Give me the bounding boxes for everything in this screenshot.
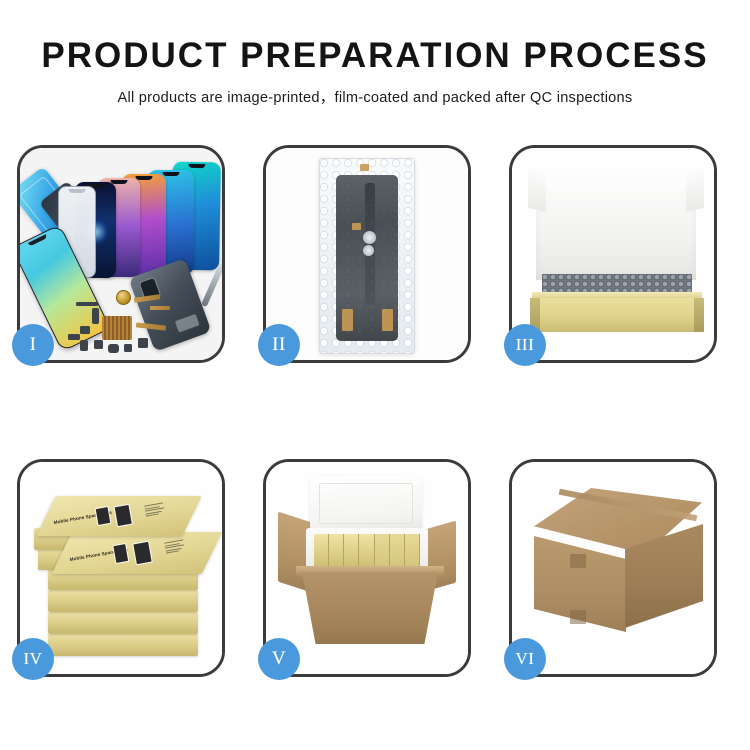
process-step-1: I <box>17 145 225 363</box>
retail-box-lid: Mobile Phone Spare Parts <box>52 532 222 574</box>
step-6-image <box>512 462 714 674</box>
sealed-carton-scene <box>512 462 714 674</box>
small-part <box>80 340 88 351</box>
carton-body <box>302 572 438 644</box>
bubble-wrap-scene <box>266 148 468 360</box>
header: PRODUCT PREPARATION PROCESS All products… <box>0 0 750 107</box>
step-3-image <box>512 148 714 360</box>
notch-icon <box>188 164 205 168</box>
carton-loading-scene <box>266 462 468 674</box>
yellow-slab <box>344 534 359 568</box>
box-stack-scene: Mobile Phone Spare Parts Mobile Phone Sp… <box>20 462 222 674</box>
speaker-part <box>116 290 131 305</box>
step-badge-5: V <box>258 638 300 680</box>
yellow-slab <box>359 534 374 568</box>
notch-icon <box>28 234 48 246</box>
step-4-image: Mobile Phone Spare Parts Mobile Phone Sp… <box>20 462 222 674</box>
small-part <box>68 334 80 340</box>
small-part <box>138 338 148 348</box>
small-part <box>124 344 132 352</box>
yellow-slab <box>329 534 344 568</box>
box-window <box>132 541 153 566</box>
yellow-slab <box>390 534 405 568</box>
carton-tab <box>570 610 586 624</box>
box-window <box>114 504 133 527</box>
page-subtitle: All products are image-printed，film-coat… <box>0 86 750 107</box>
product-preparation-infographic: PRODUCT PREPARATION PROCESS All products… <box>0 0 750 750</box>
inner-box-scene <box>512 148 714 360</box>
process-step-grid: I II <box>17 145 733 677</box>
stacked-yellow-boxes <box>314 534 420 568</box>
box-spec-lines <box>164 539 185 554</box>
small-part <box>92 308 99 324</box>
notch-icon <box>136 176 153 180</box>
tape-piece <box>342 309 353 331</box>
step-badge-2: II <box>258 324 300 366</box>
process-step-5: V <box>263 459 471 677</box>
step-badge-1: I <box>12 324 54 366</box>
flex-cable-part <box>150 306 170 310</box>
tape-piece <box>352 223 361 230</box>
tape-piece <box>360 164 369 171</box>
retail-box <box>48 634 198 656</box>
notch-icon <box>69 189 86 193</box>
foam-lid <box>536 170 696 280</box>
yellow-slab <box>375 534 390 568</box>
step-2-image <box>266 148 468 360</box>
box-window <box>112 543 129 564</box>
phone-parts-scene <box>20 148 222 360</box>
bubble-wrap-bag <box>319 158 415 354</box>
retail-box-lid: Mobile Phone Spare Parts <box>36 496 202 536</box>
page-title: PRODUCT PREPARATION PROCESS <box>0 38 750 75</box>
process-step-3: III <box>509 145 717 363</box>
step-badge-6: VI <box>504 638 546 680</box>
small-part <box>94 340 103 349</box>
retail-box <box>48 590 198 612</box>
notch-icon <box>163 172 180 176</box>
small-part <box>80 326 90 334</box>
step-1-image <box>20 148 222 360</box>
process-step-2: II <box>263 145 471 363</box>
box-window <box>95 506 112 526</box>
step-badge-4: IV <box>12 638 54 680</box>
tape-piece <box>382 309 393 331</box>
small-part <box>76 302 98 306</box>
process-step-4: Mobile Phone Spare Parts Mobile Phone Sp… <box>17 459 225 677</box>
yellow-slab <box>405 534 420 568</box>
process-step-6: VI <box>509 459 717 677</box>
box-spec-lines <box>144 502 165 517</box>
retail-box <box>48 612 198 634</box>
yellow-slab <box>314 534 329 568</box>
foam-box-lid <box>310 476 422 532</box>
chip-grid-part <box>102 316 132 340</box>
yellow-box-front <box>530 298 704 332</box>
step-badge-3: III <box>504 324 546 366</box>
retail-box-stack: Mobile Phone Spare Parts Mobile Phone Sp… <box>32 486 218 658</box>
carton-tab <box>570 554 586 568</box>
step-5-image <box>266 462 468 674</box>
small-part <box>108 344 119 353</box>
